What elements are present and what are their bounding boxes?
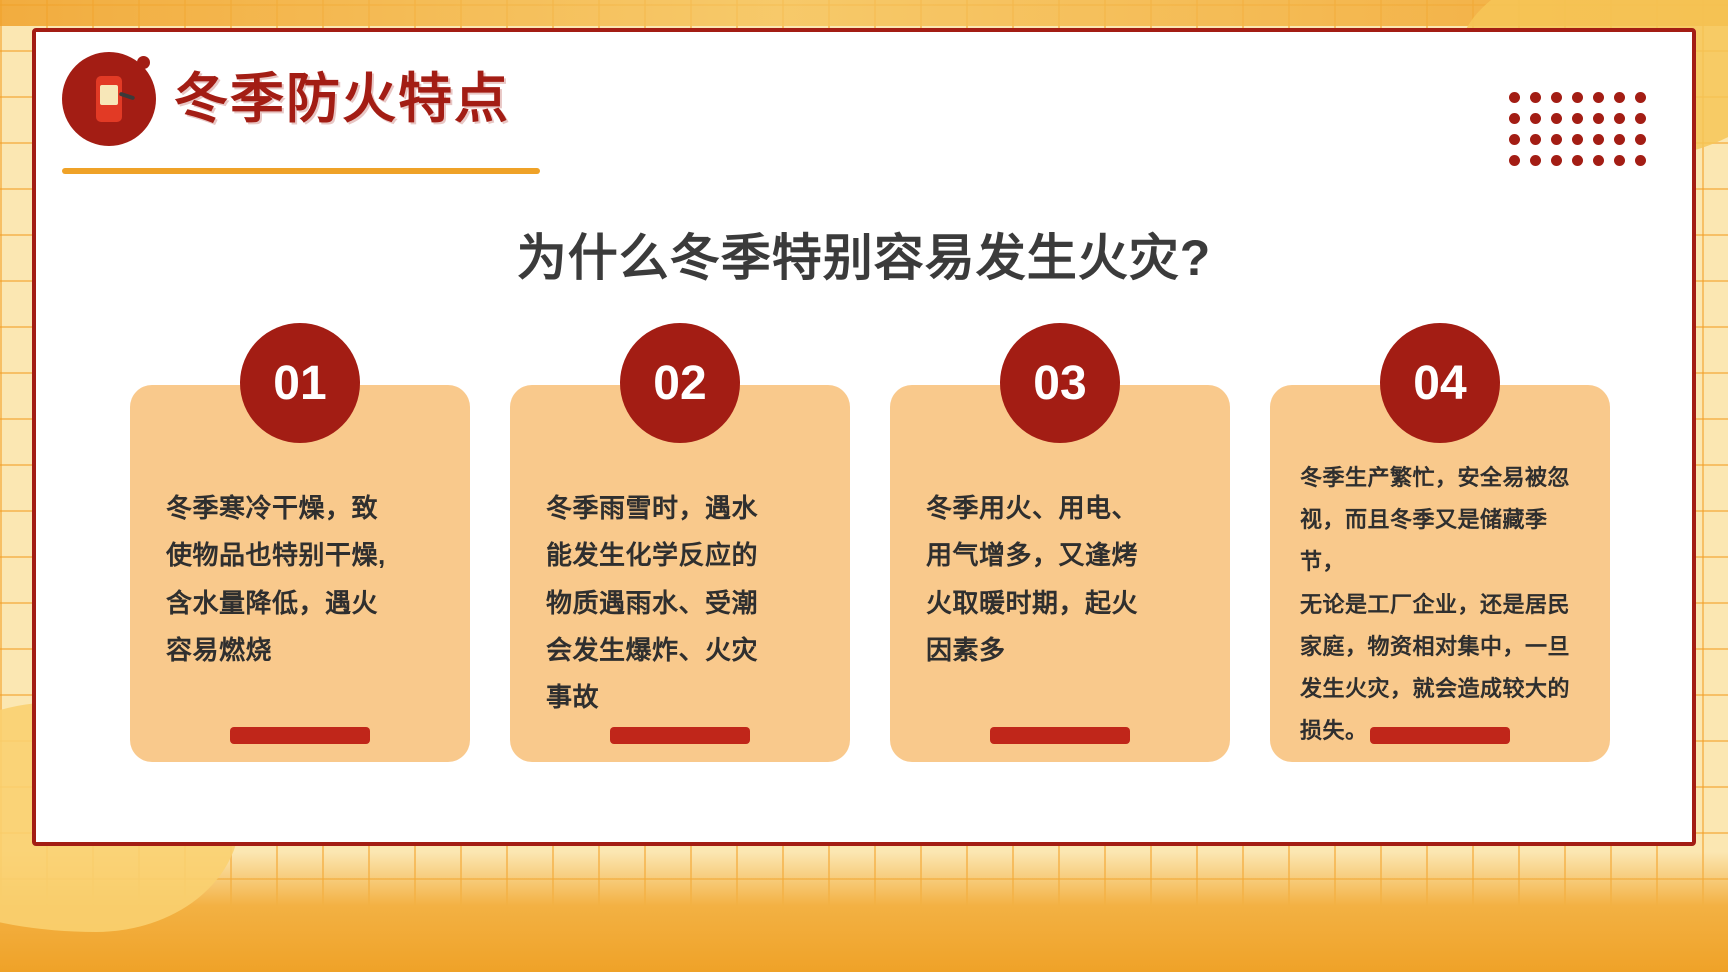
card-bottom-bar [1370, 727, 1510, 744]
card-number-badge: 03 [1000, 323, 1120, 443]
title-underline [62, 168, 540, 174]
background-band-bottom [0, 852, 1728, 972]
card-bottom-bar [990, 727, 1130, 744]
card-line: 使物品也特别干燥, [166, 532, 438, 579]
card-body-text: 冬季用火、用电、 用气增多，又逢烤 火取暖时期，起火 因素多 [926, 485, 1198, 674]
feature-card-list: 01 冬季寒冷干燥，致 使物品也特别干燥, 含水量降低，遇火 容易燃烧 02 冬… [130, 385, 1610, 785]
card-body-text: 冬季雨雪时，遇水 能发生化学反应的 物质遇雨水、受潮 会发生爆炸、火灾 事故 [546, 485, 818, 722]
card-bottom-bar [610, 727, 750, 744]
card-line: 用气增多，又逢烤 [926, 532, 1198, 579]
card-number-badge: 01 [240, 323, 360, 443]
card-body-text: 冬季寒冷干燥，致 使物品也特别干燥, 含水量降低，遇火 容易燃烧 [166, 485, 438, 674]
card-number-badge: 04 [1380, 323, 1500, 443]
card-line: 冬季用火、用电、 [926, 485, 1198, 532]
page-title: 冬季防火特点 [174, 72, 510, 126]
card-line: 会发生爆炸、火灾 [546, 627, 818, 674]
fire-extinguisher-icon [62, 52, 156, 146]
dot-matrix-decoration [1509, 92, 1656, 176]
card-line: 视，而且冬季又是储藏季节， [1300, 499, 1584, 583]
main-question: 为什么冬季特别容易发生火灾? [0, 218, 1728, 290]
card-line: 无论是工厂企业，还是居民 [1300, 584, 1584, 626]
card-line: 火取暖时期，起火 [926, 580, 1198, 627]
card-line: 容易燃烧 [166, 627, 438, 674]
card-line: 家庭，物资相对集中，一旦 [1300, 626, 1584, 668]
card-line: 冬季寒冷干燥，致 [166, 485, 438, 532]
feature-card-01: 01 冬季寒冷干燥，致 使物品也特别干燥, 含水量降低，遇火 容易燃烧 [130, 385, 470, 762]
card-line: 物质遇雨水、受潮 [546, 580, 818, 627]
card-line: 事故 [546, 674, 818, 721]
card-line: 能发生化学反应的 [546, 532, 818, 579]
card-line: 冬季雨雪时，遇水 [546, 485, 818, 532]
card-line: 含水量降低，遇火 [166, 580, 438, 627]
card-body-text: 冬季生产繁忙，安全易被忽 视，而且冬季又是储藏季节， 无论是工厂企业，还是居民 … [1300, 457, 1584, 753]
feature-card-02: 02 冬季雨雪时，遇水 能发生化学反应的 物质遇雨水、受潮 会发生爆炸、火灾 事… [510, 385, 850, 762]
card-line: 发生火灾，就会造成较大的 [1300, 668, 1584, 710]
feature-card-04: 04 冬季生产繁忙，安全易被忽 视，而且冬季又是储藏季节， 无论是工厂企业，还是… [1270, 385, 1610, 762]
card-number-badge: 02 [620, 323, 740, 443]
card-line: 冬季生产繁忙，安全易被忽 [1300, 457, 1584, 499]
card-bottom-bar [230, 727, 370, 744]
header: 冬季防火特点 [62, 52, 510, 146]
card-line: 因素多 [926, 627, 1198, 674]
feature-card-03: 03 冬季用火、用电、 用气增多，又逢烤 火取暖时期，起火 因素多 [890, 385, 1230, 762]
